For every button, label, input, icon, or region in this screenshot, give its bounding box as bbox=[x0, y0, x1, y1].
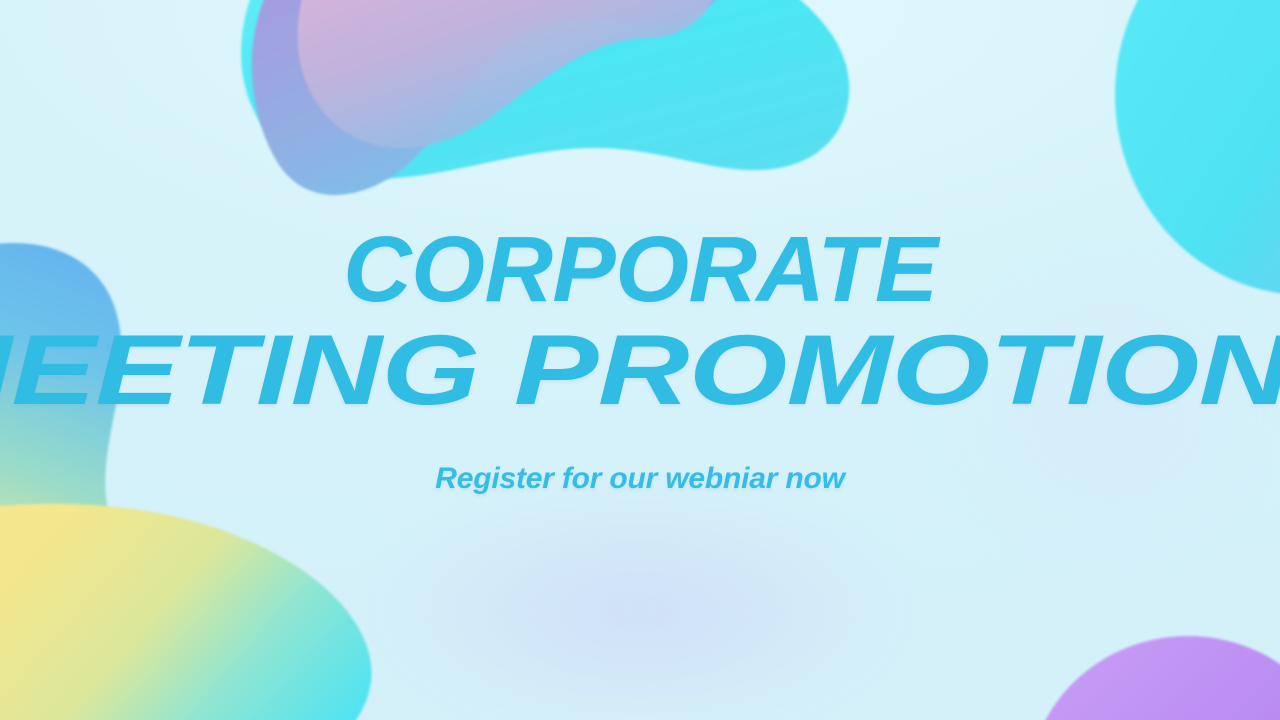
poster-subtitle: Register for our webniar now bbox=[435, 462, 844, 496]
promotional-poster: CORPORATE MEETING PROMOTIONS Register fo… bbox=[0, 0, 1280, 720]
poster-text-block: CORPORATE MEETING PROMOTIONS Register fo… bbox=[0, 0, 1280, 720]
poster-title-line-1: CORPORATE bbox=[343, 224, 937, 315]
poster-title-line-2: MEETING PROMOTIONS bbox=[0, 321, 1280, 418]
